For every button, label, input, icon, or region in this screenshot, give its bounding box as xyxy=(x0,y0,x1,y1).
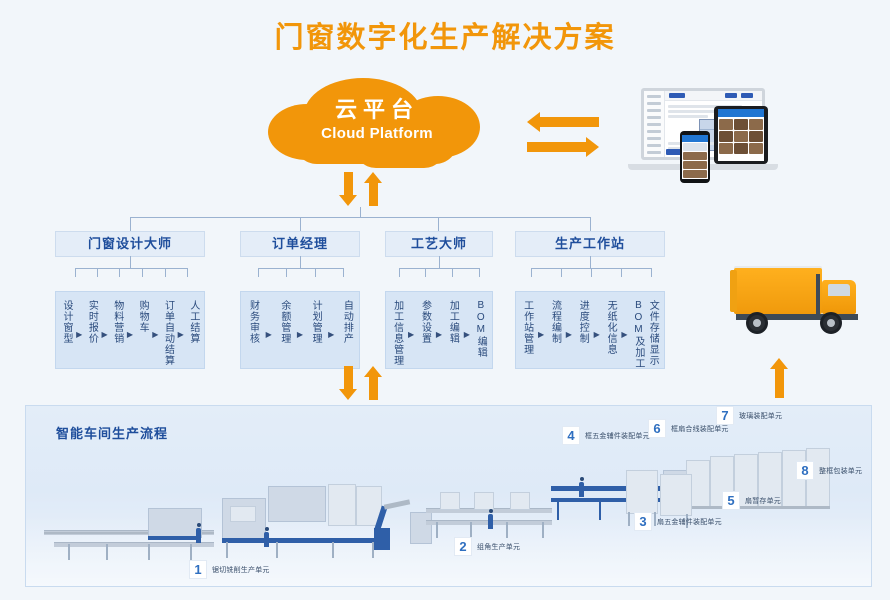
truck-exhaust-stack xyxy=(816,274,820,314)
phone-appbar xyxy=(682,135,708,142)
module-item-label: 计划管理 xyxy=(310,300,321,344)
module-drop xyxy=(165,268,166,277)
module-drop xyxy=(75,268,76,277)
module-drop xyxy=(621,268,622,277)
module-item-label: 设计窗型 xyxy=(61,300,72,344)
arrow-down-icon xyxy=(339,366,358,400)
arrow-up-icon xyxy=(770,358,789,398)
flow-arrow-icon: ▶ xyxy=(566,330,572,339)
workshop-unit-label[interactable]: 8 整框包装单元 xyxy=(796,461,862,480)
unit-number: 2 xyxy=(454,537,472,556)
module-item-label: 物料营销 xyxy=(112,300,123,344)
arrow-left-icon xyxy=(527,112,599,132)
flow-arrow-icon: ▶ xyxy=(297,330,303,339)
module-stem xyxy=(439,256,440,268)
module-item-label: 订单自动结算 xyxy=(163,300,174,366)
module-item-label: 流程编制 xyxy=(549,300,560,344)
flow-arrow-icon: ▶ xyxy=(127,330,133,339)
unit-number: 8 xyxy=(796,461,814,480)
module-item-label: 文件存储显示 xyxy=(647,300,658,366)
flow-arrow-icon: ▶ xyxy=(538,330,544,339)
module-drop xyxy=(531,268,532,277)
module-drop xyxy=(452,268,453,277)
workshop-unit-label[interactable]: 1 锯切铣削生产单元 xyxy=(189,560,270,579)
unit-number: 1 xyxy=(189,560,207,579)
unit-number: 4 xyxy=(562,426,580,445)
module-item[interactable]: 设计窗型 xyxy=(61,300,72,344)
cloud-label-en: Cloud Platform xyxy=(268,124,486,144)
flow-arrow-icon: ▶ xyxy=(266,330,272,339)
module-item[interactable]: 购物车 xyxy=(137,300,148,333)
module-item[interactable]: 实时报价 xyxy=(86,300,97,344)
unit-number: 7 xyxy=(716,406,734,425)
module-bus xyxy=(399,268,479,269)
module-item-label: BOM编辑 xyxy=(475,300,486,358)
module-item[interactable]: 无纸化信息 xyxy=(605,300,616,355)
module-drop xyxy=(286,268,287,277)
module-item[interactable]: 参数设置 xyxy=(420,300,431,344)
module-title: 订单经理 xyxy=(240,231,360,257)
module-item-label: 实时报价 xyxy=(86,300,97,344)
smart-workshop-panel: 智能车间生产流程 xyxy=(25,405,872,587)
module-item-label: 购物车 xyxy=(137,300,148,333)
module-item[interactable]: 人工结算 xyxy=(188,300,199,344)
module-item-label: 余额管理 xyxy=(279,300,290,344)
module-drop xyxy=(97,268,98,277)
module-item[interactable]: 余额管理 xyxy=(279,300,290,344)
truck-wheel xyxy=(820,312,842,334)
unit-name: 组角生产单元 xyxy=(477,542,520,552)
module-drop xyxy=(591,268,592,277)
module-item-label: 财务审核 xyxy=(248,300,259,344)
flow-arrow-icon: ▶ xyxy=(621,330,627,339)
tree-drop xyxy=(438,217,439,231)
workshop-title: 智能车间生产流程 xyxy=(56,423,168,442)
machine-group-saw xyxy=(44,502,234,560)
module-item-label: BOM及加工 xyxy=(633,300,644,369)
module-title: 门窗设计大师 xyxy=(55,231,205,257)
unit-name: 框五金辅件装配单元 xyxy=(585,431,650,441)
module-item[interactable]: 文件存储显示 xyxy=(647,300,658,366)
unit-name: 扇五金辅件装配单元 xyxy=(657,517,722,527)
arrow-down-icon xyxy=(339,172,358,206)
module-item[interactable]: 流程编制 xyxy=(549,300,560,344)
truck-window xyxy=(828,284,850,296)
module-title: 生产工作站 xyxy=(515,231,665,257)
tablet-product-grid xyxy=(719,119,763,160)
flow-arrow-icon: ▶ xyxy=(178,330,184,339)
module-drop xyxy=(561,268,562,277)
workshop-unit-label[interactable]: 3 扇五金辅件装配单元 xyxy=(634,512,722,531)
flow-arrow-icon: ▶ xyxy=(76,330,82,339)
workshop-unit-label[interactable]: 7 玻璃装配单元 xyxy=(716,406,782,425)
workshop-unit-label[interactable]: 4 框五金辅件装配单元 xyxy=(562,426,650,445)
module-item-label: 进度控制 xyxy=(577,300,588,344)
flow-arrow-icon: ▶ xyxy=(594,330,600,339)
module-stem xyxy=(300,256,301,268)
module-item[interactable]: BOM及加工 xyxy=(633,300,644,369)
unit-name: 锯切铣削生产单元 xyxy=(212,565,270,575)
module-item-label: 人工结算 xyxy=(188,300,199,344)
solution-diagram: 门窗数字化生产解决方案 云平台 Cloud Platform xyxy=(0,0,890,600)
module-item[interactable]: 订单自动结算 xyxy=(163,300,174,366)
laptop-toolbar xyxy=(665,91,762,101)
truck-cargo-box xyxy=(734,268,822,314)
arrow-up-icon xyxy=(364,366,383,400)
delivery-truck xyxy=(716,258,876,354)
module-item[interactable]: 工作站管理 xyxy=(522,300,533,355)
unit-number: 6 xyxy=(648,419,666,438)
unit-name: 整框包装单元 xyxy=(819,466,862,476)
module-item[interactable]: BOM编辑 xyxy=(475,300,486,358)
tree-drop xyxy=(590,217,591,231)
module-item-label: 工作站管理 xyxy=(522,300,533,355)
module-design-master[interactable]: 门窗设计大师 设计窗型 ▶ 实时报价 ▶ 物料营销 ▶ 购物车 ▶ 订单自动结算… xyxy=(55,231,205,369)
module-items: 工作站管理 ▶ 流程编制 ▶ 进度控制 ▶ 无纸化信息 ▶ BOM及加工 文件存… xyxy=(515,291,665,369)
module-drop xyxy=(119,268,120,277)
flow-arrow-icon: ▶ xyxy=(464,330,470,339)
module-item[interactable]: 财务审核 xyxy=(248,300,259,344)
flow-arrow-icon: ▶ xyxy=(408,330,414,339)
workshop-unit-label[interactable]: 5 扇暂存单元 xyxy=(722,491,781,510)
module-drop xyxy=(187,268,188,277)
module-drop xyxy=(399,268,400,277)
truck-wheel xyxy=(746,312,768,334)
module-drop xyxy=(425,268,426,277)
unit-number: 3 xyxy=(634,512,652,531)
module-drop xyxy=(479,268,480,277)
module-drop xyxy=(651,268,652,277)
module-drop xyxy=(142,268,143,277)
module-item[interactable]: 加工信息管理 xyxy=(392,300,403,366)
phone-list xyxy=(682,142,708,179)
module-item-label: 自动排产 xyxy=(341,300,352,344)
module-items: 财务审核 ▶ 余额管理 ▶ 计划管理 ▶ 自动排产 xyxy=(240,291,360,369)
device-mockups xyxy=(628,88,778,170)
module-item-label: 加工编辑 xyxy=(447,300,458,344)
arrow-up-icon xyxy=(364,172,383,206)
laptop-sidebar xyxy=(644,91,665,157)
tablet-screen xyxy=(718,109,764,161)
module-bus xyxy=(258,268,343,269)
module-item[interactable]: 自动排产 xyxy=(341,300,352,344)
page-title: 门窗数字化生产解决方案 xyxy=(0,14,890,56)
module-drop xyxy=(258,268,259,277)
module-items: 设计窗型 ▶ 实时报价 ▶ 物料营销 ▶ 购物车 ▶ 订单自动结算 ▶ 人工结算 xyxy=(55,291,205,369)
tree-drop xyxy=(130,217,131,231)
phone-screen xyxy=(682,135,708,179)
truck-rear-door xyxy=(730,270,737,312)
module-item[interactable]: 加工编辑 xyxy=(447,300,458,344)
unit-number: 5 xyxy=(722,491,740,510)
tablet-device xyxy=(714,106,768,164)
module-drop xyxy=(315,268,316,277)
module-bus xyxy=(75,268,187,269)
arrow-right-icon xyxy=(527,137,599,157)
unit-name: 玻璃装配单元 xyxy=(739,411,782,421)
cloud-platform-shape: 云平台 Cloud Platform xyxy=(268,78,486,170)
unit-name: 框扇合线装配单元 xyxy=(671,424,729,434)
module-order-manager[interactable]: 订单经理 财务审核 ▶ 余额管理 ▶ 计划管理 ▶ 自动排产 xyxy=(240,231,360,369)
module-item-label: 加工信息管理 xyxy=(392,300,403,366)
module-item[interactable]: 进度控制 xyxy=(577,300,588,344)
module-item-label: 无纸化信息 xyxy=(605,300,616,355)
module-item[interactable]: 计划管理 xyxy=(310,300,321,344)
module-drop xyxy=(343,268,344,277)
machine-group-cnc xyxy=(222,484,382,562)
flow-arrow-icon: ▶ xyxy=(102,330,108,339)
module-title: 工艺大师 xyxy=(385,231,493,257)
unit-name: 扇暂存单元 xyxy=(745,496,781,506)
phone-device xyxy=(680,131,710,183)
module-item-label: 参数设置 xyxy=(420,300,431,344)
cloud-platform-labels: 云平台 Cloud Platform xyxy=(268,96,486,144)
module-items: 加工信息管理 ▶ 参数设置 ▶ 加工编辑 ▶ BOM编辑 xyxy=(385,291,493,369)
workshop-unit-label[interactable]: 2 组角生产单元 xyxy=(454,537,520,556)
tree-bus xyxy=(130,217,590,218)
module-stem xyxy=(130,256,131,268)
tree-drop xyxy=(300,217,301,231)
module-process-master[interactable]: 工艺大师 加工信息管理 ▶ 参数设置 ▶ 加工编辑 ▶ BOM编辑 xyxy=(385,231,493,369)
module-item[interactable]: 物料营销 xyxy=(112,300,123,344)
module-stem xyxy=(590,256,591,268)
cloud-label-cn: 云平台 xyxy=(268,96,486,124)
tablet-appbar xyxy=(718,109,764,117)
module-production-workstation[interactable]: 生产工作站 工作站管理 ▶ 流程编制 ▶ 进度控制 ▶ 无纸化信息 ▶ BOM及… xyxy=(515,231,665,369)
flow-arrow-icon: ▶ xyxy=(436,330,442,339)
flow-arrow-icon: ▶ xyxy=(328,330,334,339)
flow-arrow-icon: ▶ xyxy=(152,330,158,339)
tree-stem xyxy=(360,207,361,217)
